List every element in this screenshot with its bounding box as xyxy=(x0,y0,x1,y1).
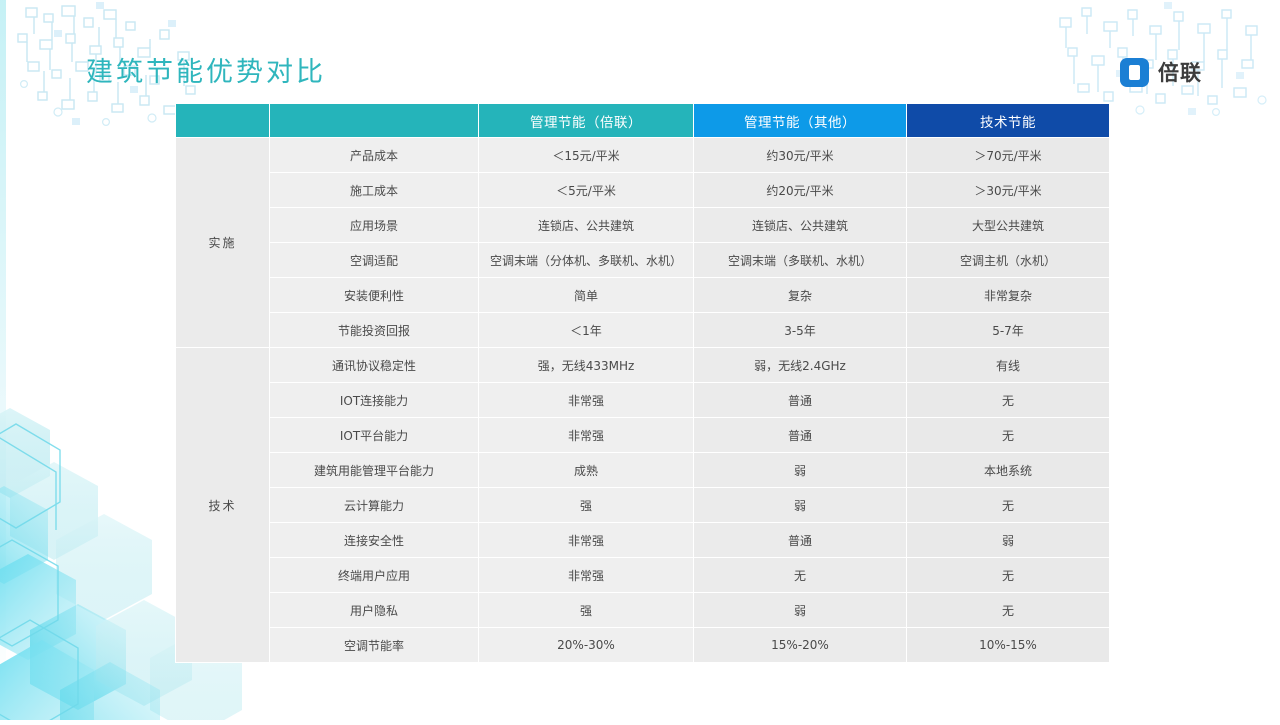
table-row: 施工成本 ＜5元/平米 约20元/平米 ＞30元/平米 xyxy=(176,173,1109,207)
cell-column-c: 无 xyxy=(907,418,1109,452)
cell-column-b: 约30元/平米 xyxy=(694,138,906,172)
cell-column-c: 非常复杂 xyxy=(907,278,1109,312)
header-cell-column-b: 管理节能（其他） xyxy=(694,104,906,137)
left-edge-gradient-bar xyxy=(0,0,6,720)
cell-column-c: 弱 xyxy=(907,523,1109,557)
cell-column-a: 强 xyxy=(479,593,693,627)
table-row: 空调节能率 20%-30% 15%-20% 10%-15% xyxy=(176,628,1109,662)
cell-column-a: 连锁店、公共建筑 xyxy=(479,208,693,242)
table-row: 建筑用能管理平台能力 成熟 弱 本地系统 xyxy=(176,453,1109,487)
metric-label: IOT连接能力 xyxy=(270,383,478,417)
metric-label: 安装便利性 xyxy=(270,278,478,312)
comparison-table: 管理节能（倍联） 管理节能（其他） 技术节能 实施 产品成本 ＜15元/平米 约… xyxy=(175,103,1110,663)
cell-column-a: 非常强 xyxy=(479,523,693,557)
cell-column-c: 10%-15% xyxy=(907,628,1109,662)
cell-column-a: 非常强 xyxy=(479,418,693,452)
cell-column-a: 空调末端（分体机、多联机、水机） xyxy=(479,243,693,277)
header-cell-blank-metric xyxy=(270,104,478,137)
cell-column-c: 有线 xyxy=(907,348,1109,382)
table-row: 技术 通讯协议稳定性 强，无线433MHz 弱，无线2.4GHz 有线 xyxy=(176,348,1109,382)
cell-column-c: 5-7年 xyxy=(907,313,1109,347)
cell-column-b: 复杂 xyxy=(694,278,906,312)
metric-label: 产品成本 xyxy=(270,138,478,172)
cell-column-b: 弱 xyxy=(694,593,906,627)
metric-label: 节能投资回报 xyxy=(270,313,478,347)
cell-column-a: ＜1年 xyxy=(479,313,693,347)
header-cell-blank-group xyxy=(176,104,269,137)
cell-column-c: 本地系统 xyxy=(907,453,1109,487)
cell-column-c: ＞70元/平米 xyxy=(907,138,1109,172)
table-row: 安装便利性 简单 复杂 非常复杂 xyxy=(176,278,1109,312)
cell-column-b: 连锁店、公共建筑 xyxy=(694,208,906,242)
table-row: 空调适配 空调末端（分体机、多联机、水机） 空调末端（多联机、水机） 空调主机（… xyxy=(176,243,1109,277)
metric-label: 施工成本 xyxy=(270,173,478,207)
table-row: 实施 产品成本 ＜15元/平米 约30元/平米 ＞70元/平米 xyxy=(176,138,1109,172)
table-row: 节能投资回报 ＜1年 3-5年 5-7年 xyxy=(176,313,1109,347)
cell-column-a: 强，无线433MHz xyxy=(479,348,693,382)
cell-column-a: 20%-30% xyxy=(479,628,693,662)
cell-column-b: 普通 xyxy=(694,418,906,452)
cell-column-a: 非常强 xyxy=(479,383,693,417)
cell-column-a: 非常强 xyxy=(479,558,693,592)
cell-column-c: 无 xyxy=(907,383,1109,417)
table-row: 连接安全性 非常强 普通 弱 xyxy=(176,523,1109,557)
metric-label: 连接安全性 xyxy=(270,523,478,557)
cell-column-b: 弱 xyxy=(694,453,906,487)
metric-label: 空调节能率 xyxy=(270,628,478,662)
cell-column-a: 强 xyxy=(479,488,693,522)
rounded-square-logo-icon xyxy=(1120,58,1149,87)
table-row: 用户隐私 强 弱 无 xyxy=(176,593,1109,627)
cell-column-b: 普通 xyxy=(694,523,906,557)
table-row: IOT平台能力 非常强 普通 无 xyxy=(176,418,1109,452)
metric-label: 建筑用能管理平台能力 xyxy=(270,453,478,487)
table-row: 云计算能力 强 弱 无 xyxy=(176,488,1109,522)
metric-label: 通讯协议稳定性 xyxy=(270,348,478,382)
cell-column-c: 大型公共建筑 xyxy=(907,208,1109,242)
group-label-technology: 技术 xyxy=(176,348,269,662)
cell-column-a: 成熟 xyxy=(479,453,693,487)
brand-name: 倍联 xyxy=(1158,57,1202,87)
cell-column-a: ＜5元/平米 xyxy=(479,173,693,207)
table-header: 管理节能（倍联） 管理节能（其他） 技术节能 xyxy=(176,104,1109,137)
table-row: 应用场景 连锁店、公共建筑 连锁店、公共建筑 大型公共建筑 xyxy=(176,208,1109,242)
cell-column-b: 15%-20% xyxy=(694,628,906,662)
header-cell-column-c: 技术节能 xyxy=(907,104,1109,137)
table-header-row: 管理节能（倍联） 管理节能（其他） 技术节能 xyxy=(176,104,1109,137)
cell-column-b: 3-5年 xyxy=(694,313,906,347)
cell-column-b: 弱 xyxy=(694,488,906,522)
metric-label: 应用场景 xyxy=(270,208,478,242)
cell-column-c: 空调主机（水机） xyxy=(907,243,1109,277)
metric-label: 用户隐私 xyxy=(270,593,478,627)
cell-column-b: 空调末端（多联机、水机） xyxy=(694,243,906,277)
group-label-implementation: 实施 xyxy=(176,138,269,347)
cell-column-a: 简单 xyxy=(479,278,693,312)
page-title: 建筑节能优势对比 xyxy=(86,50,326,89)
metric-label: 云计算能力 xyxy=(270,488,478,522)
table-body: 实施 产品成本 ＜15元/平米 约30元/平米 ＞70元/平米 施工成本 ＜5元… xyxy=(176,138,1109,662)
cell-column-b: 普通 xyxy=(694,383,906,417)
metric-label: IOT平台能力 xyxy=(270,418,478,452)
cell-column-a: ＜15元/平米 xyxy=(479,138,693,172)
cell-column-c: 无 xyxy=(907,558,1109,592)
table-row: 终端用户应用 非常强 无 无 xyxy=(176,558,1109,592)
cell-column-b: 无 xyxy=(694,558,906,592)
metric-label: 终端用户应用 xyxy=(270,558,478,592)
cell-column-c: ＞30元/平米 xyxy=(907,173,1109,207)
header-cell-column-a: 管理节能（倍联） xyxy=(479,104,693,137)
brand-logo: 倍联 xyxy=(1120,57,1202,87)
cell-column-b: 弱，无线2.4GHz xyxy=(694,348,906,382)
table-row: IOT连接能力 非常强 普通 无 xyxy=(176,383,1109,417)
metric-label: 空调适配 xyxy=(270,243,478,277)
cell-column-c: 无 xyxy=(907,488,1109,522)
cell-column-c: 无 xyxy=(907,593,1109,627)
cell-column-b: 约20元/平米 xyxy=(694,173,906,207)
